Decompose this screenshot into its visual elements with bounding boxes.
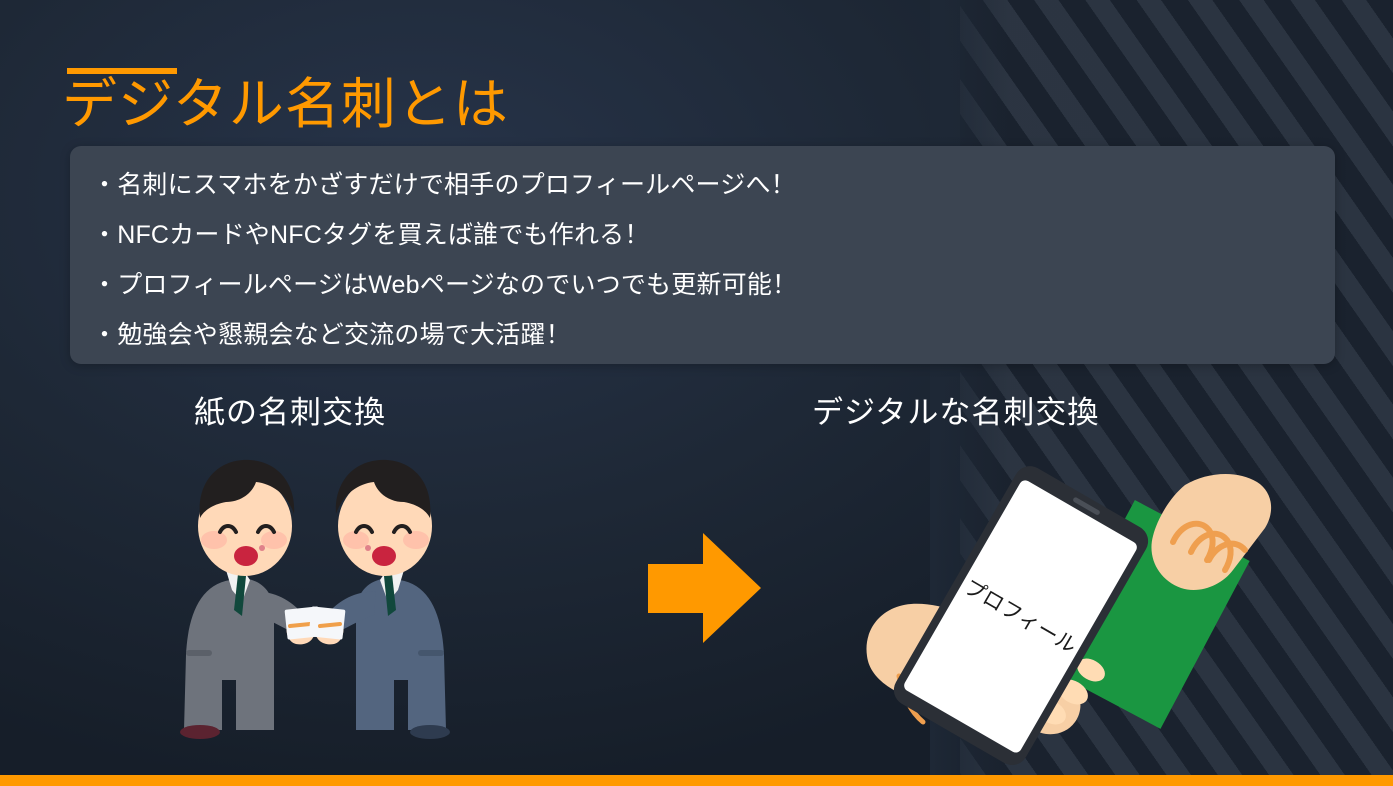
- list-item: ・プロフィールページはWebページなのでいつでも更新可能！: [92, 260, 1311, 310]
- slide-root: デジタル名刺とは ・名刺にスマホをかざすだけで相手のプロフィールページへ！ ・N…: [0, 0, 1393, 786]
- paper-card-exchange-illustration: [170, 440, 460, 755]
- page-title: デジタル名刺とは: [62, 74, 509, 136]
- left-section-caption: 紙の名刺交換: [194, 387, 386, 432]
- list-item: ・名刺にスマホをかざすだけで相手のプロフィールページへ！: [92, 160, 1311, 210]
- list-item: ・勉強会や懇親会など交流の場で大活躍！: [92, 310, 1311, 360]
- arrow-right-icon: [648, 531, 763, 646]
- bullet-list: ・名刺にスマホをかざすだけで相手のプロフィールページへ！ ・NFCカードやNFC…: [70, 146, 1335, 360]
- bottom-accent-bar: [0, 775, 1393, 786]
- list-item: ・NFCカードやNFCタグを買えば誰でも作れる！: [92, 210, 1311, 260]
- hand-holding-card: [1151, 474, 1271, 590]
- digital-card-exchange-illustration: プロフィール: [855, 420, 1335, 780]
- bullet-panel: ・名刺にスマホをかざすだけで相手のプロフィールページへ！ ・NFCカードやNFC…: [70, 146, 1335, 364]
